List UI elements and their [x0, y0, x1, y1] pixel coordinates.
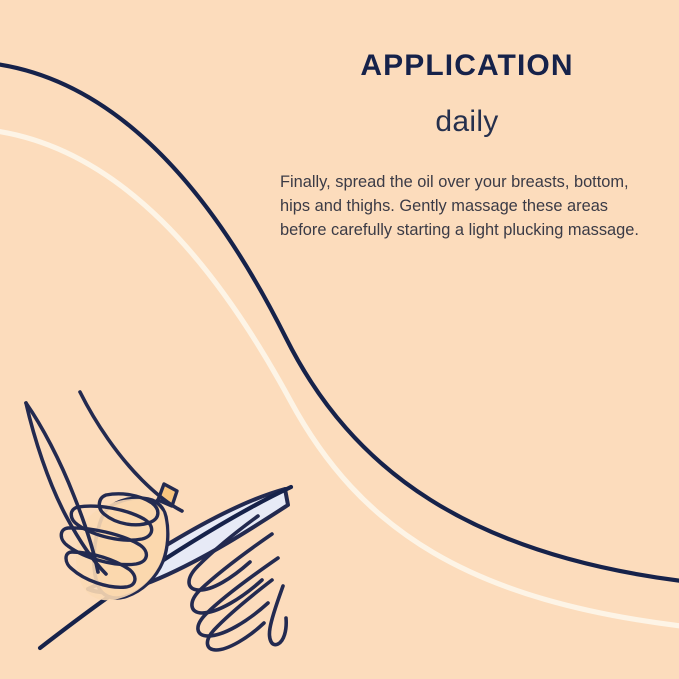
application-card: APPLICATION daily Finally, spread the oi…	[0, 0, 679, 679]
hands-applying-oil-illustration	[0, 0, 679, 679]
